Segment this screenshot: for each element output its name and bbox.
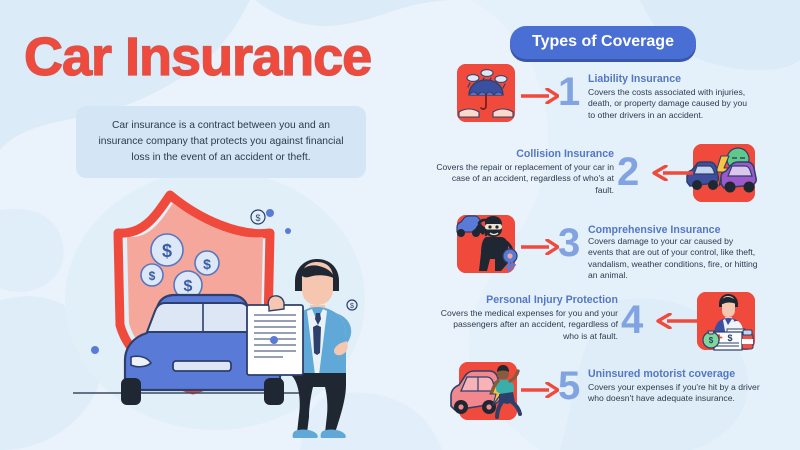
car-collision-icon [693,144,755,202]
coverage-text-1: Liability Insurance Covers the costs ass… [588,73,756,121]
svg-text:$: $ [709,336,714,345]
arrow-left-icon-2 [651,165,693,181]
coverage-heading-5: Uninsured motorist coverage [588,368,764,381]
svg-text:$: $ [727,333,732,343]
svg-text:$: $ [255,213,260,223]
coverage-text-3: Comprehensive Insurance Covers damage to… [588,224,760,282]
arrow-right-icon-1 [521,88,559,104]
svg-text:$: $ [184,278,193,295]
coverage-body-2: Covers the repair or replacement of your… [436,162,614,197]
infographic-page: Car Insurance Car insurance is a contrac… [0,0,800,450]
coverage-number-4: 4 [621,300,643,340]
arrow-right-icon-3 [521,239,559,255]
arrow-left-icon-4 [655,313,697,329]
coverage-body-1: Covers the costs associated with injurie… [588,87,756,122]
coverage-body-5: Covers your expenses if you're hit by a … [588,382,764,405]
svg-text:$: $ [350,303,354,310]
arrow-right-icon-5 [521,382,559,398]
coverage-text-5: Uninsured motorist coverage Covers your … [588,368,764,405]
coverage-number-5: 5 [558,366,580,406]
coverage-body-3: Covers damage to your car caused by even… [588,236,760,282]
page-title: Car Insurance [24,30,371,84]
svg-text:$: $ [203,256,211,272]
coverage-text-2: Collision Insurance Covers the repair or… [436,148,614,196]
coverage-text-4: Personal Injury Protection Covers the me… [438,294,618,342]
svg-text:$: $ [149,269,156,283]
coverage-heading-2: Collision Insurance [436,148,614,161]
coverage-number-3: 3 [558,223,580,263]
coverage-number-2: 2 [617,152,639,192]
umbrella-rain-hands-icon [457,64,515,122]
injured-person-medical-bill-icon: $ $ [697,292,755,350]
coverage-heading-4: Personal Injury Protection [438,294,618,307]
coverage-number-1: 1 [558,72,580,112]
car-hits-pedestrian-icon [459,362,517,420]
coverage-body-4: Covers the medical expenses for you and … [438,308,618,343]
car-shield-agent-illustration: $ $ $ $ [55,185,375,440]
thief-car-theft-icon [457,215,515,273]
types-of-coverage-badge: Types of Coverage [510,26,696,59]
coverage-heading-1: Liability Insurance [588,73,756,86]
svg-text:$: $ [162,241,172,261]
intro-description: Car insurance is a contract between you … [76,106,366,178]
